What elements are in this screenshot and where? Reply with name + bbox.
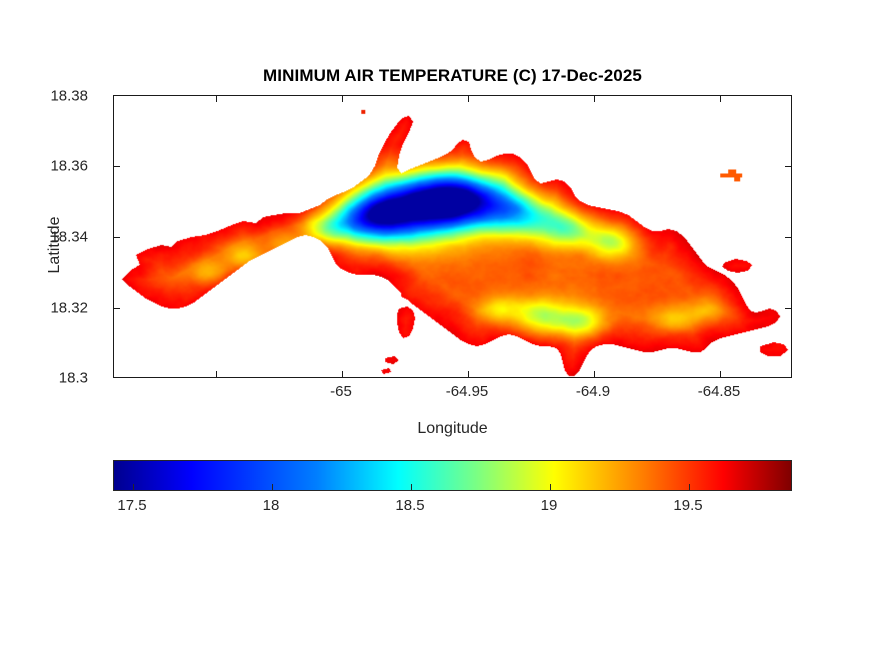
ytick-label-4: 18.38 <box>50 88 88 105</box>
tick-x-bottom-4 <box>720 371 721 377</box>
tick-y-right-1 <box>785 237 791 238</box>
tick-y-left-1 <box>114 237 120 238</box>
page-title: MINIMUM AIR TEMPERATURE (C) 17-Dec-2025 <box>113 66 792 86</box>
colorbar-label-1: 18 <box>263 497 280 514</box>
map-axes[interactable] <box>113 95 792 378</box>
xtick-label-1: -64.95 <box>446 383 489 400</box>
colorbar-tick-2 <box>411 484 412 490</box>
ytick-label-3: 18.36 <box>50 158 88 175</box>
tick-x-bottom-1 <box>342 371 343 377</box>
colorbar-label-3: 19 <box>541 497 558 514</box>
colorbar-tick-3 <box>550 484 551 490</box>
colorbar-label-0: 17.5 <box>117 497 146 514</box>
tick-x-top-0 <box>216 96 217 102</box>
tick-y-left-0 <box>114 166 120 167</box>
colorbar-tick-0 <box>133 484 134 490</box>
x-axis-label: Longitude <box>113 420 792 438</box>
xtick-label-2: -64.9 <box>576 383 610 400</box>
tick-y-right-0 <box>785 166 791 167</box>
tick-y-left-2 <box>114 308 120 309</box>
colorbar-tick-4 <box>689 484 690 490</box>
temperature-heatmap <box>114 96 791 377</box>
figure-canvas: MINIMUM AIR TEMPERATURE (C) 17-Dec-2025 … <box>0 0 875 656</box>
tick-y-right-2 <box>785 308 791 309</box>
tick-x-bottom-3 <box>594 371 595 377</box>
xtick-label-0: -65 <box>330 383 352 400</box>
tick-x-top-3 <box>594 96 595 102</box>
colorbar-label-4: 19.5 <box>673 497 702 514</box>
colorbar-tick-1 <box>272 484 273 490</box>
ytick-label-0: 18.3 <box>59 370 88 387</box>
tick-x-top-1 <box>342 96 343 102</box>
tick-x-bottom-0 <box>216 371 217 377</box>
y-axis-label: Latitude <box>46 185 64 305</box>
xtick-label-3: -64.85 <box>698 383 741 400</box>
colorbar-label-2: 18.5 <box>395 497 424 514</box>
tick-x-bottom-2 <box>468 371 469 377</box>
tick-x-top-4 <box>720 96 721 102</box>
tick-x-top-2 <box>468 96 469 102</box>
colorbar[interactable] <box>113 460 792 491</box>
